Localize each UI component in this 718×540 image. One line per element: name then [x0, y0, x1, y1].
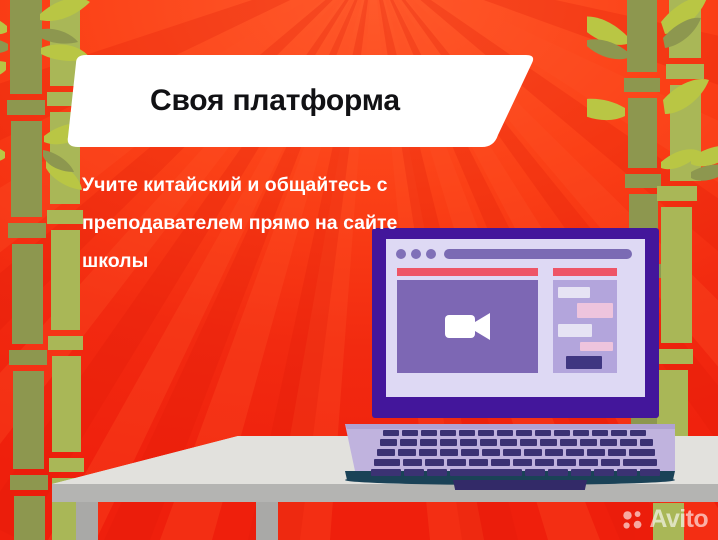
promo-banner-image: Своя платформа Учите китайский и общайте…	[0, 0, 718, 540]
chat-send-button	[566, 356, 602, 369]
subtitle-line-3: школы	[82, 242, 482, 280]
laptop-trackpad	[453, 480, 587, 490]
chat-bubble-right	[577, 303, 613, 318]
chat-bubble-left	[558, 324, 592, 337]
chat-bubble-right	[580, 342, 613, 351]
avito-brand-label: Avito	[649, 507, 708, 532]
subtitle-line-1: Учите китайский и общайтесь с	[82, 166, 482, 204]
subtitle-block: Учите китайский и общайтесь с преподават…	[82, 166, 482, 280]
avito-watermark: Avito	[622, 507, 708, 532]
subtitle-line-2: преподавателем прямо на сайте	[82, 204, 482, 242]
chat-bubble-left	[558, 287, 590, 298]
banner-title: Своя платформа	[150, 55, 400, 147]
avito-dots-icon	[622, 509, 644, 531]
sidebar-header-bar	[553, 268, 617, 276]
title-banner: Своя платформа	[66, 55, 536, 147]
